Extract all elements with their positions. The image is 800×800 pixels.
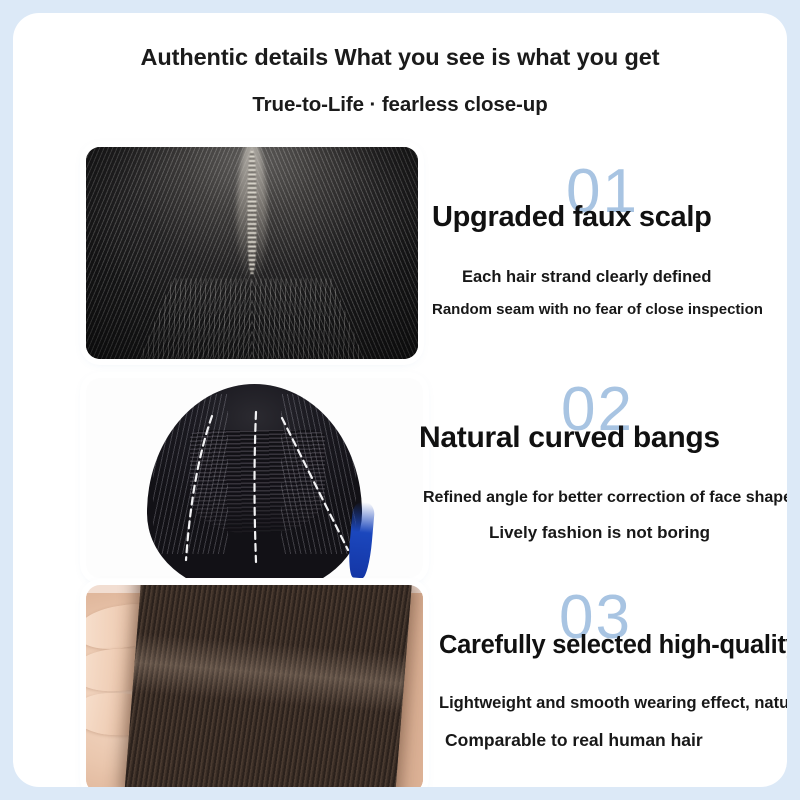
feature-subline-02-b: Lively fashion is not boring [489,523,787,543]
hair-quality-in-hand-photo [86,585,423,787]
feature-headline-01: Upgraded faux scalp [432,201,779,234]
photo-artwork [86,147,418,359]
photo-vignette [86,147,418,359]
photo-artwork [86,378,423,578]
page-card: Authentic details What you see is what y… [13,13,787,787]
feature-text-column-01: 01 Upgraded faux scalp Each hair strand … [418,139,779,319]
feature-subline-03-a: Lightweight and smooth wearing effect, n… [439,694,787,714]
hair-gloss-highlight [132,632,406,714]
dashed-curve-guides [86,378,423,578]
photo-artwork [86,585,423,787]
feature-section-03: 03 Carefully selected high-quality hair … [73,575,779,787]
feature-subline-01-a: Each hair strand clearly defined [462,268,779,288]
header-block: Authentic details What you see is what y… [13,43,787,118]
hair-swatch [124,585,411,787]
feature-subline-02-a: Refined angle for better correction of f… [423,488,787,507]
page-frame: Authentic details What you see is what y… [0,0,800,800]
feature-text-column-03: 03 Carefully selected high-quality hair … [423,575,787,751]
wig-crown-closeup-photo [86,147,418,359]
feature-text-column-02: 02 Natural curved bangs Refined angle fo… [423,365,787,543]
feature-section-02: 02 Natural curved bangs Refined angle fo… [73,365,779,578]
page-title: Authentic details What you see is what y… [13,43,787,71]
feature-headline-03: Carefully selected high-quality hair [439,631,787,660]
feature-section-01: 01 Upgraded faux scalp Each hair strand … [73,139,779,359]
page-subtitle: True-to-Life · fearless close-up [13,93,787,118]
feature-headline-02: Natural curved bangs [419,421,787,456]
feature-subline-03-b: Comparable to real human hair [445,730,787,751]
curved-bangs-photo [86,378,423,578]
feature-subline-01-b: Random seam with no fear of close inspec… [432,301,779,319]
